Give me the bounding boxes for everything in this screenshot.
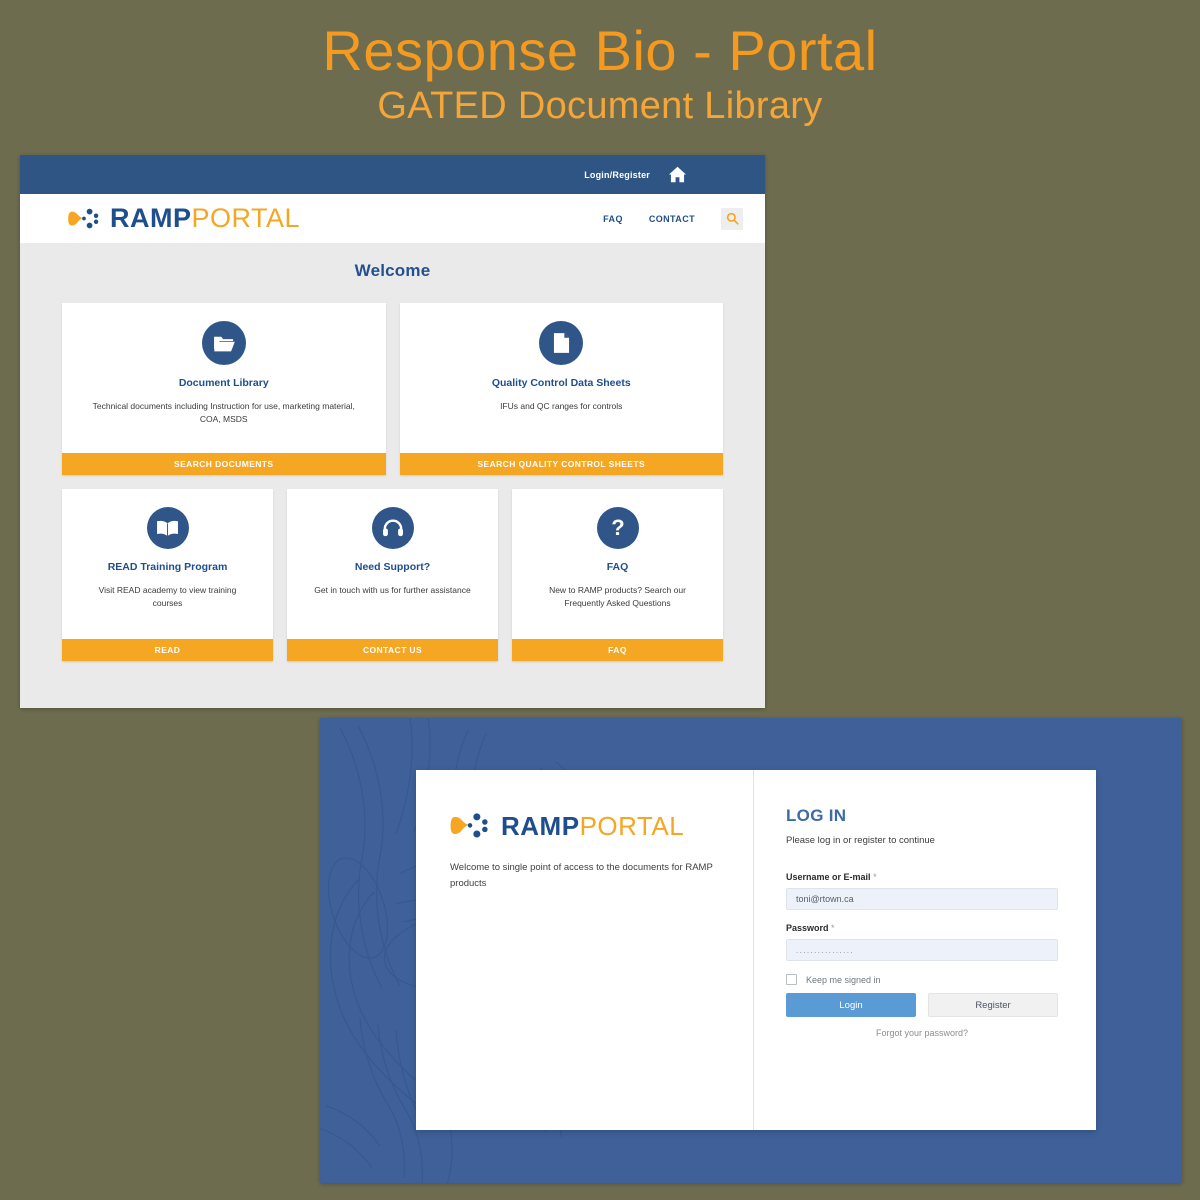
login-heading: LOG IN	[786, 806, 1060, 826]
headset-icon	[372, 507, 414, 549]
card-row-secondary: READ Training Program Visit READ academy…	[62, 489, 723, 661]
login-subheading: Please log in or register to continue	[786, 835, 1060, 846]
login-brand-secondary: PORTAL	[580, 811, 685, 841]
login-brand-text: RAMPPORTAL	[501, 811, 684, 842]
password-label: Password *	[786, 923, 1060, 933]
keep-signed-in-row[interactable]: Keep me signed in	[786, 974, 1060, 985]
card-row-primary: Document Library Technical documents inc…	[62, 303, 723, 475]
card-title: FAQ	[607, 561, 629, 573]
search-documents-button[interactable]: SEARCH DOCUMENTS	[62, 453, 386, 475]
keep-signed-in-checkbox[interactable]	[786, 974, 797, 985]
login-dialog: RAMPPORTAL Welcome to single point of ac…	[416, 770, 1096, 1130]
card-document-library[interactable]: Document Library Technical documents inc…	[62, 303, 386, 475]
card-body: READ Training Program Visit READ academy…	[62, 489, 273, 639]
card-description: Technical documents including Instructio…	[88, 400, 360, 426]
card-need-support[interactable]: Need Support? Get in touch with us for f…	[287, 489, 498, 661]
portal-content: Welcome Document Library Technical docum…	[20, 243, 765, 708]
brand-logo[interactable]: RAMPPORTAL	[68, 203, 300, 234]
contact-us-button[interactable]: CONTACT US	[287, 639, 498, 661]
login-intro-panel: RAMPPORTAL Welcome to single point of ac…	[416, 770, 754, 1130]
slide-header: Response Bio - Portal GATED Document Lib…	[0, 22, 1200, 128]
card-body: ? FAQ New to RAMP products? Search our F…	[512, 489, 723, 639]
card-description: IFUs and QC ranges for controls	[500, 400, 622, 413]
password-label-text: Password	[786, 923, 829, 933]
brand-secondary: PORTAL	[192, 203, 301, 233]
card-body: Document Library Technical documents inc…	[62, 303, 386, 453]
brand-text: RAMPPORTAL	[110, 203, 300, 234]
portal-topbar: Login/Register	[20, 155, 765, 194]
login-welcome-text: Welcome to single point of access to the…	[450, 860, 725, 891]
register-button[interactable]: Register	[928, 993, 1058, 1017]
password-input[interactable]: ................	[786, 939, 1058, 961]
portal-navbar: RAMPPORTAL FAQ CONTACT	[20, 194, 765, 243]
login-actions: Login Register	[786, 993, 1060, 1017]
card-read-training-program[interactable]: READ Training Program Visit READ academy…	[62, 489, 273, 661]
search-icon[interactable]	[721, 208, 743, 230]
login-brand-primary: RAMP	[501, 811, 580, 841]
document-page-icon	[539, 321, 583, 365]
card-faq[interactable]: ? FAQ New to RAMP products? Search our F…	[512, 489, 723, 661]
username-label: Username or E-mail *	[786, 872, 1060, 882]
open-book-icon	[147, 507, 189, 549]
login-form-panel: LOG IN Please log in or register to cont…	[754, 770, 1096, 1130]
username-input[interactable]: toni@rtown.ca	[786, 888, 1058, 910]
login-brand-logo: RAMPPORTAL	[450, 810, 725, 842]
read-button[interactable]: READ	[62, 639, 273, 661]
card-title: Document Library	[179, 377, 269, 389]
search-quality-control-sheets-button[interactable]: SEARCH QUALITY CONTROL SHEETS	[400, 453, 724, 475]
home-icon[interactable]	[668, 166, 687, 183]
brand-primary: RAMP	[110, 203, 192, 233]
login-screenshot: RAMPPORTAL Welcome to single point of ac…	[320, 718, 1182, 1183]
ramp-molecule-logo-icon	[68, 206, 100, 232]
card-title: Need Support?	[355, 561, 430, 573]
username-label-text: Username or E-mail	[786, 872, 871, 882]
keep-signed-in-label: Keep me signed in	[806, 975, 881, 985]
card-description: Get in touch with us for further assista…	[314, 584, 470, 597]
card-title: Quality Control Data Sheets	[492, 377, 631, 389]
faq-button[interactable]: FAQ	[512, 639, 723, 661]
folder-open-icon	[202, 321, 246, 365]
username-required-mark: *	[873, 872, 877, 882]
portal-screenshot: Login/Register RAMPPORTAL FAQ CONTACT	[20, 155, 765, 708]
question-mark-icon: ?	[597, 507, 639, 549]
svg-text:?: ?	[611, 516, 624, 540]
page-title: Response Bio - Portal	[0, 22, 1200, 81]
forgot-password-link[interactable]: Forgot your password?	[786, 1028, 1058, 1038]
login-button[interactable]: Login	[786, 993, 916, 1017]
login-register-link[interactable]: Login/Register	[584, 170, 650, 180]
welcome-heading: Welcome	[62, 261, 723, 281]
card-description: Visit READ academy to view training cour…	[83, 584, 251, 610]
page-subtitle: GATED Document Library	[0, 85, 1200, 128]
nav-link-faq[interactable]: FAQ	[603, 214, 623, 224]
ramp-molecule-logo-icon	[450, 810, 490, 842]
card-title: READ Training Program	[108, 561, 228, 573]
card-description: New to RAMP products? Search our Frequen…	[533, 584, 701, 610]
card-quality-control-data-sheets[interactable]: Quality Control Data Sheets IFUs and QC …	[400, 303, 724, 475]
nav-link-contact[interactable]: CONTACT	[649, 214, 695, 224]
nav-links: FAQ CONTACT	[603, 208, 743, 230]
card-body: Need Support? Get in touch with us for f…	[287, 489, 498, 639]
card-body: Quality Control Data Sheets IFUs and QC …	[400, 303, 724, 453]
password-required-mark: *	[831, 923, 835, 933]
